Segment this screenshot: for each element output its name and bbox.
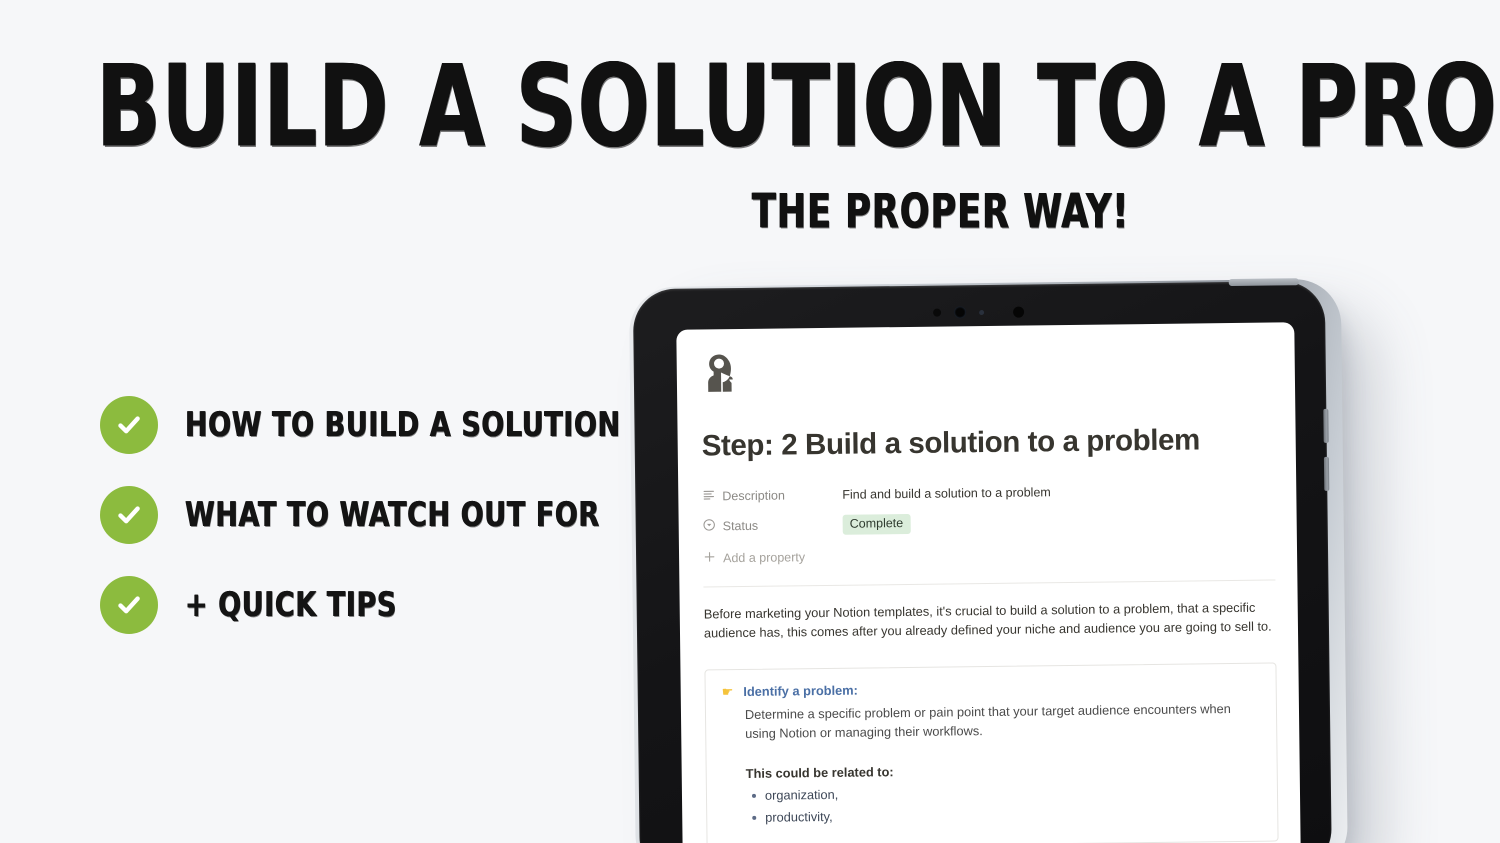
list-item-label: HOW TO BUILD A SOLUTION [185, 406, 621, 445]
page-title: BUILD A SOLUTION TO A PROBLEM [96, 52, 1393, 163]
callout-bullet-list: organization, productivity, [746, 778, 1261, 828]
notion-document: Step: 2 Build a solution to a problem [676, 322, 1301, 843]
intro-paragraph[interactable]: Before marketing your Notion templates, … [704, 597, 1276, 643]
property-list: Description Find and build a solution to… [702, 474, 1275, 573]
tablet-screen: Step: 2 Build a solution to a problem [676, 322, 1301, 843]
list-item-label: + QUICK TIPS [185, 586, 397, 625]
callout-header: ☛ Identify a problem: [722, 677, 1260, 700]
list-item[interactable]: productivity, [765, 800, 1261, 828]
camera-lens-icon [933, 309, 941, 317]
text-lines-icon [702, 488, 715, 504]
property-key-label: Description [722, 488, 785, 503]
property-row-status[interactable]: Status Complete [703, 504, 1275, 541]
callout-heading[interactable]: Identify a problem: [743, 682, 858, 700]
plus-icon [703, 550, 716, 566]
add-property-label: Add a property [723, 550, 805, 565]
check-circle-icon [100, 486, 158, 544]
callout-paragraph[interactable]: Determine a specific problem or pain poi… [745, 698, 1260, 743]
property-value-status[interactable]: Complete [843, 514, 911, 534]
callout-block[interactable]: ☛ Identify a problem: Determine a specif… [704, 662, 1278, 843]
feature-checklist: HOW TO BUILD A SOLUTION WHAT TO WATCH OU… [100, 380, 660, 650]
camera-lens-icon [954, 306, 966, 318]
divider [703, 579, 1275, 587]
add-property-button[interactable]: Add a property [703, 536, 1275, 573]
property-key: Description [702, 487, 842, 505]
status-badge[interactable]: Complete [843, 514, 911, 534]
property-key-label: Status [723, 519, 759, 533]
page-subtitle: THE PROPER WAY! [752, 190, 1129, 237]
volume-down-button[interactable] [1324, 457, 1329, 491]
head-keyhole-icon[interactable] [701, 351, 740, 395]
check-circle-icon [100, 576, 158, 634]
proximity-sensor-icon [997, 310, 1000, 313]
status-circle-icon [703, 518, 716, 534]
pointing-finger-icon: ☛ [722, 684, 734, 701]
property-value-description[interactable]: Find and build a solution to a problem [842, 485, 1051, 502]
list-item: + QUICK TIPS [100, 560, 660, 650]
list-item: HOW TO BUILD A SOLUTION [100, 380, 660, 470]
callout-body: Determine a specific problem or pain poi… [745, 698, 1261, 828]
camera-lens-icon [1013, 306, 1024, 317]
callout-subheading[interactable]: This could be related to: [746, 759, 1261, 780]
camera-sensor-cluster [933, 306, 1024, 319]
antenna-band [1229, 278, 1299, 286]
list-item-label: WHAT TO WATCH OUT FOR [185, 496, 600, 535]
document-title[interactable]: Step: 2 Build a solution to a problem [702, 423, 1274, 464]
poster-canvas: BUILD A SOLUTION TO A PROBLEM THE PROPER… [0, 0, 1500, 843]
tablet-device: Step: 2 Build a solution to a problem [621, 273, 1352, 843]
list-item: WHAT TO WATCH OUT FOR [100, 470, 660, 560]
device-bezel: Step: 2 Build a solution to a problem [633, 281, 1332, 843]
ambient-sensor-icon [979, 310, 984, 315]
property-key: Status [703, 517, 843, 535]
volume-up-button[interactable] [1323, 409, 1328, 443]
check-circle-icon [100, 396, 158, 454]
